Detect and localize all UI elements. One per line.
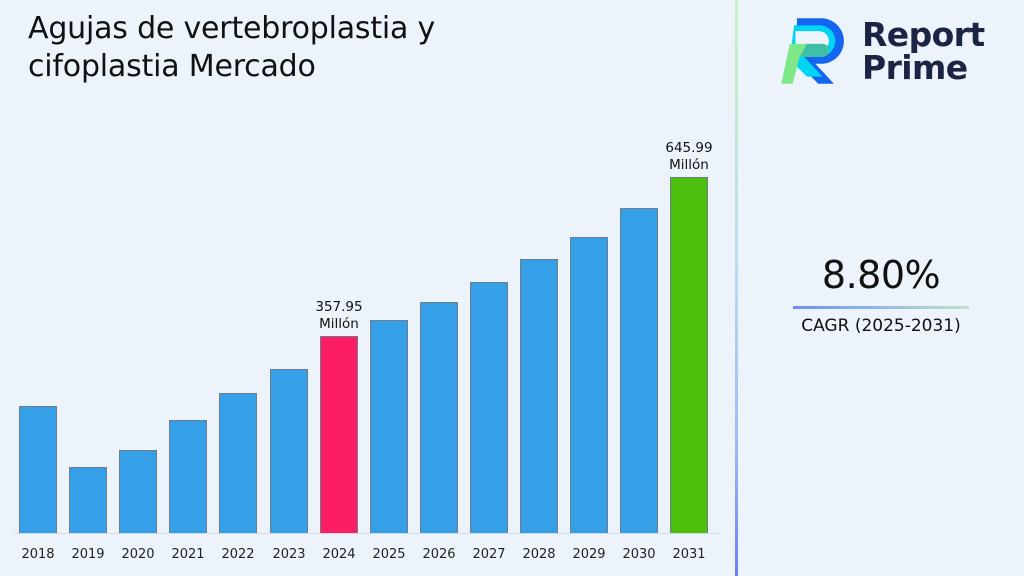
bar-group: 2023: [270, 0, 308, 576]
x-axis-label-2026: 2026: [411, 547, 467, 562]
x-axis-label-2027: 2027: [461, 547, 517, 562]
bar-2020[interactable]: [119, 450, 157, 534]
bar-group: 2026: [420, 0, 458, 576]
brand-name-line1: Report: [862, 18, 985, 51]
x-axis-label-2025: 2025: [361, 547, 417, 562]
x-axis-label-2020: 2020: [110, 547, 166, 562]
bar-group: 2020: [119, 0, 157, 576]
bar-group: 357.95 Millón2024: [320, 0, 358, 576]
report-prime-r-logo-icon: [778, 14, 850, 88]
bar-2028[interactable]: [520, 259, 558, 534]
brand-logo: Report Prime: [778, 14, 985, 88]
cagr-block: 8.80% CAGR (2025-2031): [738, 255, 1024, 336]
bar-group: 2029: [570, 0, 608, 576]
brand-wordmark: Report Prime: [862, 18, 985, 84]
cagr-caption: CAGR (2025-2031): [738, 316, 1024, 336]
x-axis-label-2029: 2029: [561, 547, 617, 562]
bar-2022[interactable]: [219, 393, 257, 534]
brand-name-line2: Prime: [862, 51, 985, 84]
bar-2018[interactable]: [19, 406, 57, 534]
bar-group: 645.99 Millón2031: [670, 0, 708, 576]
bar-2021[interactable]: [169, 420, 207, 534]
bar-group: 2027: [470, 0, 508, 576]
bar-2031[interactable]: [670, 177, 708, 534]
brand-panel: Report Prime 8.80% CAGR (2025-2031): [738, 0, 1024, 576]
bar-group: 2018: [19, 0, 57, 576]
x-axis-label-2018: 2018: [10, 547, 66, 562]
cagr-value: 8.80%: [738, 255, 1024, 297]
bar-group: 2025: [370, 0, 408, 576]
bar-group: 2021: [169, 0, 207, 576]
x-axis-label-2023: 2023: [261, 547, 317, 562]
x-axis-label-2031: 2031: [661, 547, 717, 562]
x-axis-label-2028: 2028: [511, 547, 567, 562]
cagr-divider: [793, 306, 969, 309]
x-axis-label-2030: 2030: [611, 547, 667, 562]
axis-baseline: [14, 533, 720, 534]
chart-panel: Agujas de vertebroplastia y cifoplastia …: [0, 0, 736, 576]
bar-2023[interactable]: [270, 369, 308, 534]
x-axis-label-2019: 2019: [60, 547, 116, 562]
bar-group: 2028: [520, 0, 558, 576]
x-axis-label-2021: 2021: [160, 547, 216, 562]
bar-group: 2019: [69, 0, 107, 576]
bar-2025[interactable]: [370, 320, 408, 534]
bar-2019[interactable]: [69, 467, 107, 534]
x-axis-label-2022: 2022: [210, 547, 266, 562]
bar-2029[interactable]: [570, 237, 608, 534]
bar-value-label-2031: 645.99 Millón: [634, 140, 744, 173]
bar-chart-plot: 201820192020202120222023357.95 Millón202…: [0, 0, 736, 576]
bar-2024[interactable]: [320, 336, 358, 534]
bar-group: 2022: [219, 0, 257, 576]
bar-2027[interactable]: [470, 282, 508, 534]
bar-2026[interactable]: [420, 302, 458, 534]
bar-2030[interactable]: [620, 208, 658, 534]
x-axis-label-2024: 2024: [311, 547, 367, 562]
bar-group: 2030: [620, 0, 658, 576]
